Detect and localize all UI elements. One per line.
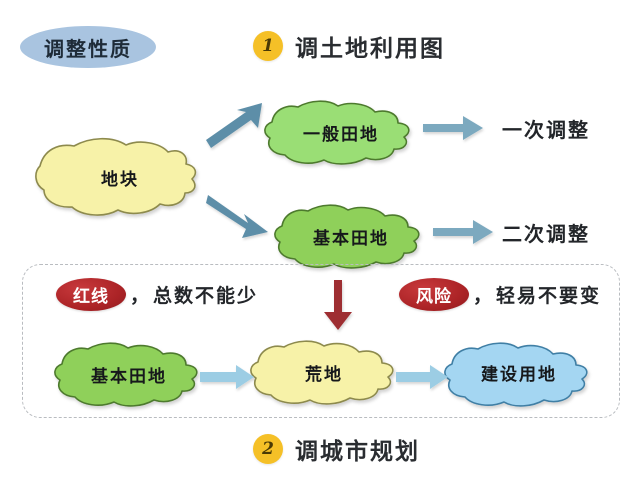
note-risk: 风险 ， 轻易不要变 bbox=[399, 278, 601, 311]
note-redline-text: 总数不能少 bbox=[153, 281, 258, 308]
badge-risk-label: 风险 bbox=[416, 282, 452, 307]
result-label-first-adjustment: 一次调整 bbox=[502, 114, 590, 143]
section-2-title: 调城市规划 bbox=[295, 432, 420, 466]
blob-parcel-label-wrap: 地块 bbox=[40, 136, 200, 218]
blob-general-farmland-label-wrap: 一般田地 bbox=[266, 99, 416, 165]
blob-parcel-label: 地块 bbox=[40, 136, 200, 218]
section-2-number: 2 bbox=[262, 439, 274, 459]
arrow-down-right-icon bbox=[206, 195, 268, 238]
section-header-2: 2 调城市规划 bbox=[253, 432, 420, 466]
arrow-right-icon-1 bbox=[423, 116, 483, 140]
note-redline: 红线 ， 总数不能少 bbox=[56, 278, 258, 311]
blob-basic-farmland-top-label-wrap: 基本田地 bbox=[276, 203, 426, 269]
badge-redline: 红线 bbox=[56, 278, 126, 311]
note-risk-separator: ， bbox=[473, 281, 492, 308]
result-label-second-adjustment: 二次调整 bbox=[502, 218, 590, 247]
note-redline-separator: ， bbox=[130, 281, 149, 308]
section-2-number-badge: 2 bbox=[253, 434, 283, 464]
note-risk-text: 轻易不要变 bbox=[496, 281, 601, 308]
arrow-right-icon-2 bbox=[433, 220, 493, 244]
blob-general-farmland-label: 一般田地 bbox=[266, 99, 416, 165]
badge-redline-label: 红线 bbox=[73, 282, 109, 307]
badge-risk: 风险 bbox=[399, 278, 469, 311]
arrow-up-right-icon bbox=[206, 103, 262, 148]
diagram-canvas: 调整性质 1 调土地利用图 bbox=[0, 0, 640, 480]
blob-basic-farmland-top-label: 基本田地 bbox=[276, 203, 426, 269]
